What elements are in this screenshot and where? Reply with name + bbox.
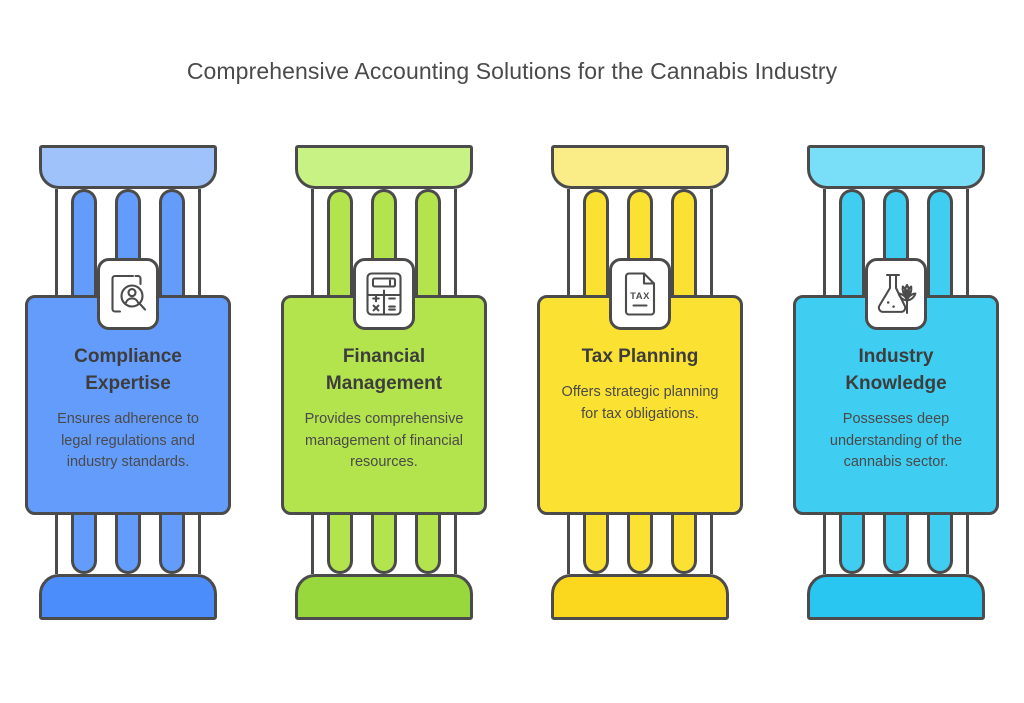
card-title-line-2: Knowledge [808, 371, 984, 398]
pillar-capital [807, 145, 985, 189]
pillar-4[interactable]: IndustryKnowledgePossesses deep understa… [768, 145, 1024, 620]
pillar-row: ComplianceExpertiseEnsures adherence to … [0, 145, 1024, 620]
card-title-line-2: Management [296, 371, 472, 398]
card-description: Possesses deep understanding of the cann… [808, 409, 984, 474]
page-title: Comprehensive Accounting Solutions for t… [0, 58, 1024, 85]
card-title: IndustryKnowledge [808, 344, 984, 398]
card-description: Provides comprehensive management of fin… [296, 409, 472, 474]
pillar-3[interactable]: Tax PlanningOffers strategic planning fo… [512, 145, 768, 620]
card-title-line-1: Tax Planning [552, 344, 728, 371]
card-title: FinancialManagement [296, 344, 472, 398]
infographic-canvas: Comprehensive Accounting Solutions for t… [0, 0, 1024, 703]
icon-badge [97, 258, 159, 330]
card-description: Ensures adherence to legal regulations a… [40, 409, 216, 474]
card-title: ComplianceExpertise [40, 344, 216, 398]
icon-badge [865, 258, 927, 330]
icon-badge: TAX [609, 258, 671, 330]
card-description: Offers strategic planning for tax obliga… [552, 382, 728, 426]
pillar-2[interactable]: FinancialManagementProvides comprehensiv… [256, 145, 512, 620]
card-title-line-1: Financial [296, 344, 472, 371]
calculator-icon [365, 271, 403, 317]
pillar-capital [295, 145, 473, 189]
pillar-capital [39, 145, 217, 189]
card-title-line-2: Expertise [40, 371, 216, 398]
card-title-line-1: Compliance [40, 344, 216, 371]
tax-document-icon: TAX [622, 271, 658, 317]
card-title-line-1: Industry [808, 344, 984, 371]
document-magnifier-person-icon [108, 272, 148, 316]
pillar-base [39, 574, 217, 620]
pillar-base [551, 574, 729, 620]
pillar-capital [551, 145, 729, 189]
pillar-base [807, 574, 985, 620]
pillar-base [295, 574, 473, 620]
card-title: Tax Planning [552, 344, 728, 371]
flask-cannabis-leaf-icon [874, 272, 918, 316]
pillar-1[interactable]: ComplianceExpertiseEnsures adherence to … [0, 145, 256, 620]
icon-badge [353, 258, 415, 330]
svg-text:TAX: TAX [630, 290, 650, 301]
